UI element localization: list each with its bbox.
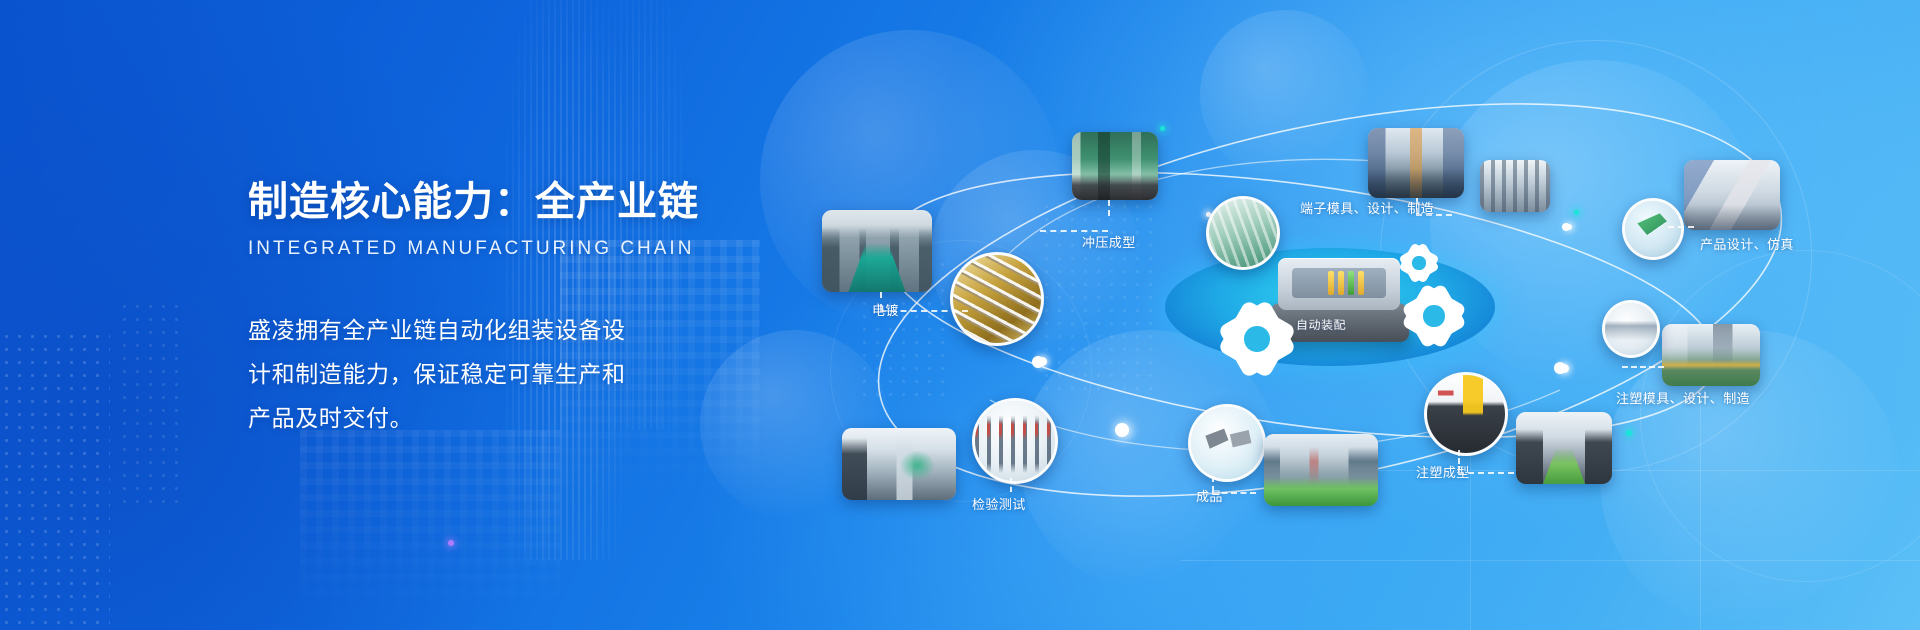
connector-inspection xyxy=(1010,478,1012,492)
gear-icon xyxy=(1228,310,1286,368)
hub-label: 自动装配 xyxy=(1296,317,1347,333)
thumbnail-injection-line xyxy=(1516,412,1612,484)
thumbnail-inspection xyxy=(842,428,956,500)
thumbnail-mold-part xyxy=(1602,300,1660,358)
description-paragraph: 盛凌拥有全产业链自动化组装设备设 计和制造能力，保证稳定可靠生产和 产品及时交付… xyxy=(248,308,693,440)
manufacturing-chain-banner: 制造核心能力：全产业链 INTEGRATED MANUFACTURING CHA… xyxy=(0,0,1920,630)
thumbnail-product-design xyxy=(1684,160,1780,230)
thumbnail-stamping xyxy=(1072,132,1158,200)
gear-icon xyxy=(1410,292,1458,340)
label-injection-forming: 注塑成型 xyxy=(1416,462,1470,481)
text-block: 制造核心能力：全产业链 INTEGRATED MANUFACTURING CHA… xyxy=(248,180,748,440)
description-line: 产品及时交付。 xyxy=(248,396,693,440)
thumbnail-injection-mold xyxy=(1662,324,1760,386)
connector-product-design xyxy=(1668,226,1694,228)
description-line: 计和制造能力，保证稳定可靠生产和 xyxy=(248,352,693,396)
thumbnail-3d-model xyxy=(1622,198,1684,260)
connector-stamping xyxy=(1108,200,1110,216)
label-finished-product: 成品 xyxy=(1196,486,1223,505)
thumbnail-finished-product xyxy=(1188,404,1266,482)
label-terminal-mold: 端子模具、设计、制造 xyxy=(1300,198,1434,217)
page-subtitle: INTEGRATED MANUFACTURING CHAIN xyxy=(248,238,748,260)
thumbnail-mold-detail xyxy=(1480,160,1550,212)
label-stamping: 冲压成型 xyxy=(1082,232,1136,251)
label-product-design: 产品设计、仿真 xyxy=(1700,234,1794,253)
label-injection-mold: 注塑模具、设计、制造 xyxy=(1616,388,1750,407)
label-inspection: 检验测试 xyxy=(972,494,1026,513)
description-line: 盛凌拥有全产业链自动化组装设备设 xyxy=(248,308,693,352)
thumbnail-test-fixture xyxy=(972,398,1058,484)
label-plating: 电镀 xyxy=(872,300,899,319)
thumbnail-gold-terminal xyxy=(950,252,1044,346)
thumbnail-assembly-line xyxy=(1264,434,1378,506)
thumbnail-plating xyxy=(822,210,932,292)
thumbnail-terminal-mold xyxy=(1368,128,1464,198)
page-title: 制造核心能力：全产业链 xyxy=(248,180,748,224)
thumbnail-injection-machine xyxy=(1424,372,1508,456)
connector-injection-mold xyxy=(1622,366,1664,368)
